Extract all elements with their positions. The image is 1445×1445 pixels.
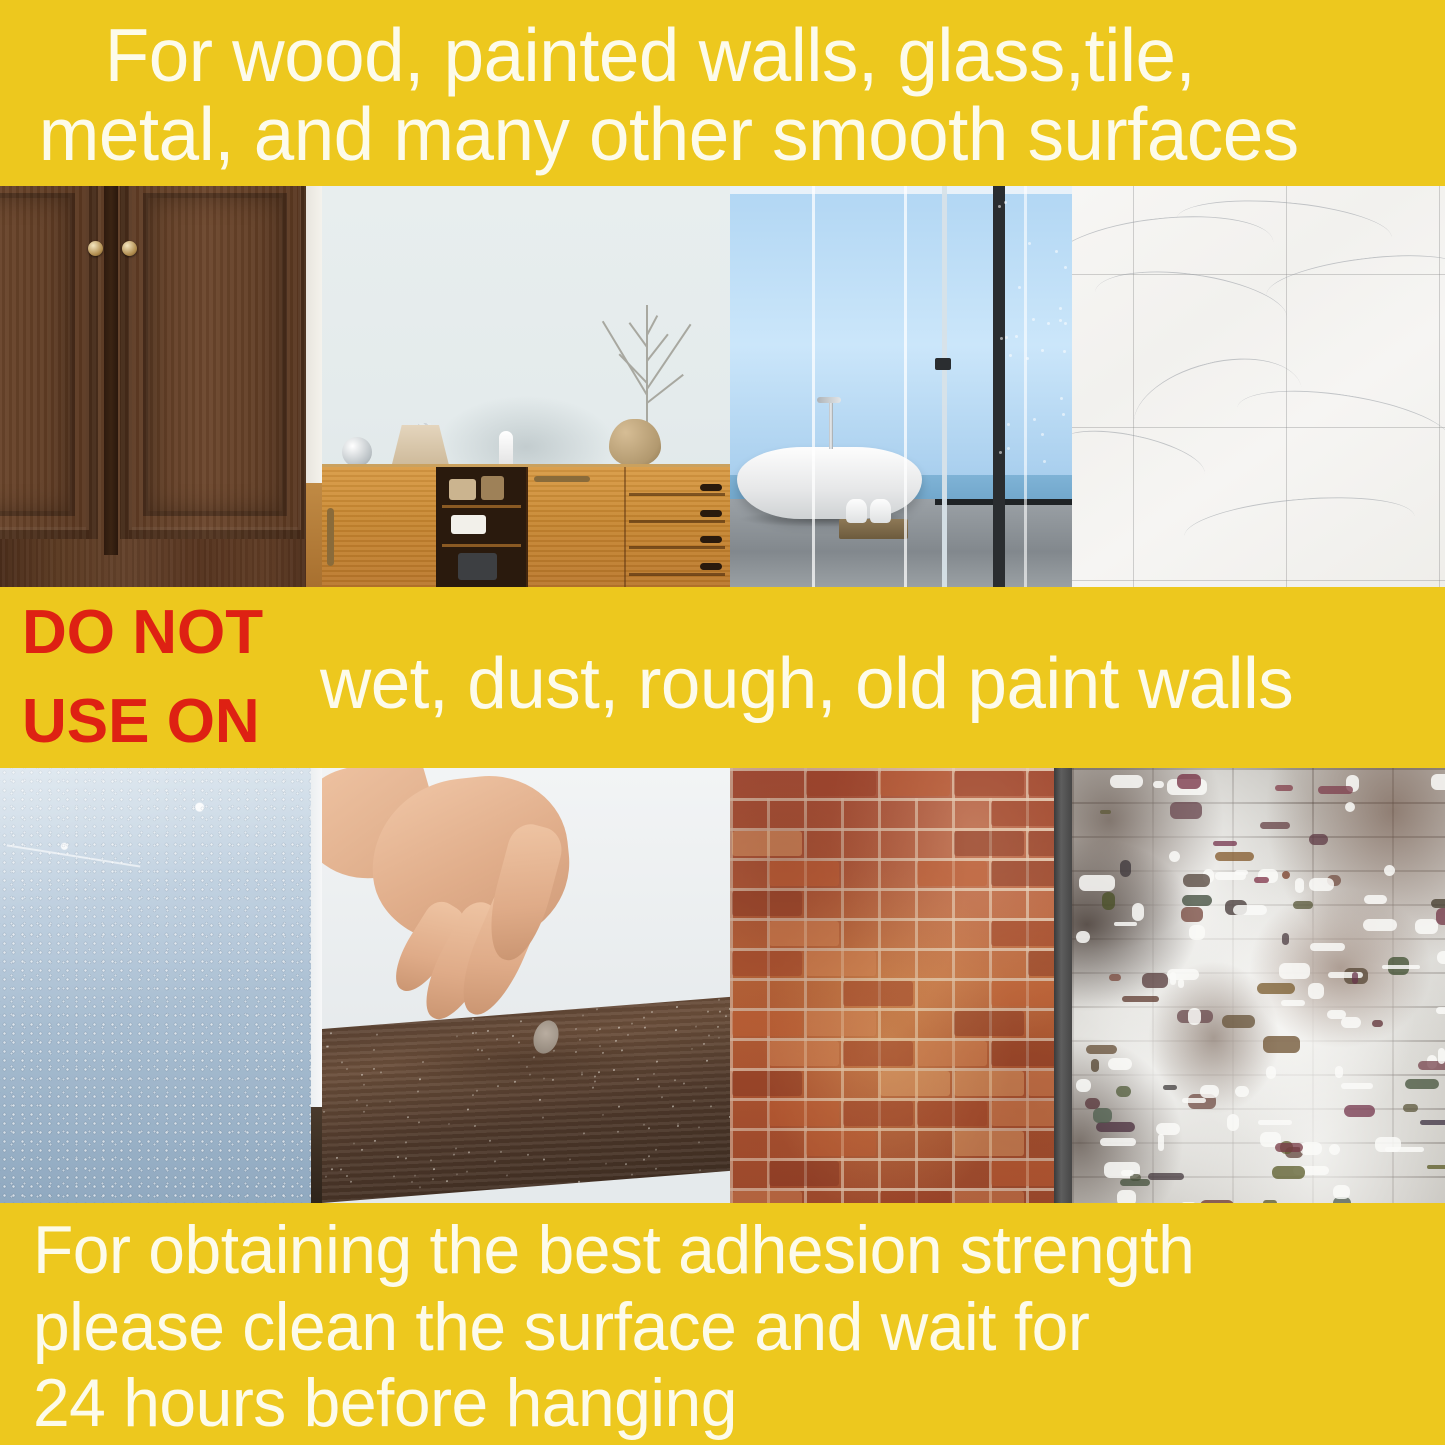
paint-fleck [1086,1045,1117,1054]
paint-fleck [1438,1048,1445,1064]
dust-speck [672,1105,674,1107]
dust-speck [543,1158,545,1160]
paint-fleck [1436,1007,1445,1014]
dust-speck [393,1176,395,1178]
dust-speck [446,1180,448,1182]
paint-fleck [1076,1079,1091,1092]
paint-fleck [1167,969,1199,980]
cabinet-door-right [120,186,310,539]
drawer-seam [629,546,724,549]
dust-speck [569,1158,571,1160]
paint-fleck [1188,1008,1201,1025]
bathtub [737,447,922,519]
brick-face [732,1071,802,1096]
paint-fleck [1327,1010,1346,1019]
paint-fleck [1282,871,1290,879]
do-not-use-line-2: USE ON [22,678,320,766]
dust-speck [363,1084,365,1086]
dust-speck [655,1168,657,1170]
dust-speck [494,1161,496,1163]
dust-speck [389,1101,391,1103]
dust-speck [656,1060,658,1062]
sideboard-handle [534,476,590,482]
dust-speck [677,1123,679,1125]
drawer-seam [629,573,724,576]
brick-face [954,1011,1024,1036]
ceramic-vase [609,419,661,467]
brick-face [917,1041,987,1066]
dust-speck [717,1026,719,1028]
dust-speck [683,1083,685,1085]
branch-twig [647,374,684,404]
dust-speck [414,1174,416,1176]
dust-speck [703,1042,705,1044]
dust-speck [366,1104,368,1106]
drawer-pull [700,510,722,517]
glass-speck [1015,335,1018,338]
door-latch [935,358,951,370]
dust-speck [489,1139,491,1141]
dust-speck [373,1068,375,1070]
dust-speck [405,1142,407,1144]
paint-fleck [1257,983,1295,994]
dust-speck [430,1159,432,1161]
dust-speck [602,1113,604,1115]
dust-speck [693,1099,695,1101]
brick-face [991,1161,1061,1186]
dust-speck [466,1171,468,1173]
dust-speck [330,1032,332,1034]
paint-fleck [1341,1017,1361,1028]
glass-speck [1018,286,1021,289]
brick-face [769,861,839,886]
dust-speck [653,1073,655,1075]
forbidden-surfaces-photo-row [0,768,1445,1203]
glass-speck [998,205,1001,208]
cabinet-knob-icon [88,241,103,256]
brick-face [843,1041,913,1066]
dust-speck [698,1126,700,1128]
dust-speck [527,1154,529,1156]
brick-face [954,1071,1024,1096]
dust-speck [397,1156,399,1158]
dust-speck [472,1094,474,1096]
cabinet-door-gap [104,186,118,555]
do-not-use-label: DO NOT USE ON [0,589,320,765]
cabinet-knob-icon [122,241,137,256]
paint-fleck [1170,802,1202,819]
dust-speck [643,1124,645,1126]
shelf-divider [442,505,521,508]
dust-speck [605,1162,607,1164]
dust-speck [618,1105,620,1107]
dust-speck [705,1086,707,1088]
brick-face [806,1011,876,1036]
glass-mullion [812,186,815,587]
dust-speck [542,1117,544,1119]
paint-fleck [1266,1066,1276,1079]
wood-cabinet-photo [0,186,322,587]
sideboard-open-shelves [436,467,528,587]
paint-fleck [1183,874,1210,887]
dust-speck [467,1108,469,1110]
dust-speck [506,1174,508,1176]
cabinet-wall-strip [306,186,322,483]
dust-speck [675,1029,677,1031]
glass-speck [1060,397,1063,400]
drawer-seam [629,493,724,496]
drawer-seam [629,520,724,523]
dust-speck [433,1168,435,1170]
paint-fleck [1308,983,1324,999]
dust-speck [331,1168,333,1170]
paint-fleck [1102,892,1115,910]
paint-fleck [1431,899,1445,908]
sky-background [730,186,1072,475]
paint-fleck [1163,1085,1177,1090]
paint-fleck [1117,1190,1136,1203]
dust-speck [708,1034,710,1036]
dust-speck [677,1125,679,1127]
drawer-pull [700,536,722,543]
instructions-line-1: For obtaining the best adhesion strength [0,1212,1402,1289]
brick-face [991,1101,1061,1126]
dust-speck [583,1133,585,1135]
paint-fleck [1142,973,1168,988]
paint-fleck [1437,951,1445,964]
dust-speck [676,1006,678,1008]
paint-fleck [1096,1122,1135,1132]
branch-twig [647,333,670,361]
rough-brick-photo [730,768,1072,1203]
paint-fleck [1263,1036,1300,1053]
top-headline-line-1: For wood, painted walls, glass,tile, [0,16,1402,96]
top-headline-band: For wood, painted walls, glass,tile, met… [0,0,1445,186]
shelf-divider [442,544,521,547]
paint-fleck [1227,1114,1239,1131]
dust-speck [356,1099,358,1101]
brick-face [732,951,802,976]
shelf-object [481,476,504,500]
dust-speck [710,1105,712,1107]
dust-speck [578,1180,580,1182]
do-not-use-band: DO NOT USE ON wet, dust, rough, old pain… [0,587,1445,768]
paint-fleck [1100,810,1111,814]
brick-face [769,921,839,946]
glass-mullion [904,186,907,587]
shelf-object [458,553,497,579]
figurine-ornament [499,431,513,467]
dust-speck [340,1169,342,1171]
paint-fleck [1235,1086,1249,1097]
dust-speck [323,1111,325,1113]
dusty-surface-photo [322,768,730,1203]
brick-face [991,861,1061,886]
approved-surfaces-photo-row [0,186,1445,587]
brick-face [917,1101,987,1126]
dust-speck [674,1079,676,1081]
brick-face [732,831,802,856]
dust-speck [631,1173,633,1175]
paint-fleck [1079,875,1115,891]
brick-face [954,831,1024,856]
brick-face [880,771,950,796]
paint-fleck [1189,925,1205,940]
dust-speck [718,999,720,1001]
brick-face [880,1071,950,1096]
folded-towel [846,499,867,523]
dust-speck [476,1090,478,1092]
instructions-band: For obtaining the best adhesion strength… [0,1203,1445,1445]
paint-fleck [1148,1173,1184,1180]
paint-fleck [1405,1079,1439,1089]
dust-speck [432,1178,434,1180]
dust-speck [346,1175,348,1177]
dust-speck [725,1015,727,1017]
dust-speck [336,1156,338,1158]
dust-speck [456,1173,458,1175]
paint-fleck [1085,1098,1100,1109]
glass-speck [999,451,1002,454]
dust-speck [500,1151,502,1153]
dust-speck [706,1059,708,1061]
glass-speck [1063,350,1066,353]
paint-fleck [1215,872,1246,880]
brick-face [769,1161,839,1186]
paint-fleck [1272,1166,1305,1179]
dust-speck [695,1026,697,1028]
glass-speck [1043,460,1046,463]
paint-fleck [1385,1147,1424,1152]
paint-fleck [1200,1085,1219,1098]
dust-speck [327,1046,329,1048]
glass-speck [1041,349,1044,352]
paint-fleck [1156,1123,1180,1135]
paint-fleck [1275,1143,1303,1152]
sideboard-door [322,467,438,587]
branch-twig [647,315,659,335]
glass-speck [1059,319,1062,322]
brick-face [806,771,876,796]
paint-fleck [1363,919,1397,931]
shelf-object [449,479,476,501]
paint-fleck [1415,919,1438,934]
paint-fleck [1177,774,1201,789]
paint-fleck [1382,965,1420,969]
dust-speck [341,1062,343,1064]
paint-fleck [1372,1020,1383,1027]
dust-speck [707,1011,709,1013]
dust-speck [374,1140,376,1142]
paint-fleck [1114,922,1137,926]
dust-speck [448,1123,450,1125]
paint-fleck [1122,996,1159,1002]
paint-fleck [1258,1120,1292,1125]
cabinet-floor-strip [306,483,322,587]
dust-speck [405,1157,407,1159]
paint-fleck [1158,1134,1164,1151]
brick-face [806,1131,876,1156]
brick-face [917,861,987,886]
dust-speck [353,1143,355,1145]
dry-branch [646,305,648,423]
panel-edge [311,768,322,1203]
hand [346,772,664,1059]
brick-face [880,1191,950,1203]
drawer-pull [700,563,722,570]
brick-face [732,891,802,916]
paint-fleck [1293,901,1313,909]
paint-fleck [1091,1059,1099,1072]
glass-speck [1005,336,1008,339]
dust-speck [474,1125,476,1127]
do-not-use-target-surfaces: wet, dust, rough, old paint walls [320,632,1428,722]
paint-fleck [1282,933,1289,945]
painted-wall-photo [322,186,730,587]
dust-speck [718,1037,720,1039]
dust-speck [325,1176,327,1178]
paint-fleck [1403,1104,1418,1112]
wet-surface-photo [0,768,322,1203]
paint-fleck [1120,1179,1150,1186]
dust-speck [453,1154,455,1156]
paint-fleck [1254,877,1269,883]
paint-fleck [1344,1105,1375,1117]
dust-speck [361,1074,363,1076]
paint-fleck [1427,1165,1445,1169]
glass-speck [1000,337,1003,340]
tile-photo [1072,186,1445,587]
paint-fleck [1436,908,1445,925]
brick-face [954,1191,1024,1203]
window-lintel [730,186,1072,194]
brick-face [769,1101,839,1126]
dust-speck [539,1099,541,1101]
paint-fleck [1182,895,1212,906]
paint-fleck [1169,851,1180,862]
paint-fleck [1310,943,1345,951]
dust-speck [648,1128,650,1130]
brick-face [732,1011,802,1036]
paint-fleck [1110,775,1143,788]
paint-fleck [1222,1015,1255,1028]
paint-fleck [1213,841,1237,846]
glass-door-frame [942,186,947,587]
paint-fleck [1178,979,1184,988]
paint-fleck [1295,878,1304,893]
dust-speck [407,1116,409,1118]
dust-speck [658,1086,660,1088]
dust-speck [350,1181,352,1183]
sideboard-drawers [624,467,730,587]
dust-speck [699,1169,701,1171]
black-post [993,186,1005,587]
dust-speck [411,1180,413,1182]
sideboard-cabinet [526,467,626,587]
paint-fleck [1093,1108,1112,1123]
shelf-object [451,515,487,534]
glass-speck [1004,201,1007,204]
dust-speck [691,1048,693,1050]
dust-speck [468,1152,470,1154]
sideboard-handle [327,508,334,566]
paint-fleck [1318,786,1353,794]
dust-speck [419,1186,421,1188]
product-infographic: For wood, painted walls, glass,tile, met… [0,0,1445,1445]
paint-fleck [1352,972,1358,984]
paint-fleck [1215,852,1254,861]
dust-speck [625,1163,627,1165]
paint-fleck [1260,822,1290,829]
dust-speck [418,1121,420,1123]
dust-speck [655,1148,657,1150]
paint-fleck [1182,1098,1206,1103]
dust-speck [361,1149,363,1151]
dust-speck [417,1091,419,1093]
paint-fleck [1275,785,1293,791]
top-headline-line-2: metal, and many other smooth surfaces [0,95,1402,175]
glass-speck [1047,322,1050,325]
drawer-pull [700,484,722,491]
paint-fleck [1279,963,1310,979]
dust-speck [698,1141,700,1143]
brick-face [954,1131,1024,1156]
brick-face [991,981,1061,1006]
dust-speck [719,1010,721,1012]
decorative-ball [342,437,372,467]
paint-fleck [1309,878,1334,891]
cabinet-door-left [0,186,98,539]
branch-twig [619,353,648,383]
paint-fleck [1281,1000,1305,1006]
dust-speck [661,1097,663,1099]
paint-fleck [1333,1185,1350,1199]
brick-face [991,1041,1061,1066]
brick-face [732,1191,802,1203]
glass-speck [1062,413,1065,416]
glass-photo [730,186,1072,587]
dust-speck [380,1071,382,1073]
glass-speck [1064,322,1067,325]
dust-speck [643,1158,645,1160]
paint-fleck [1335,1066,1343,1078]
folded-towel [870,499,891,523]
brick-face [843,1101,913,1126]
faucet [829,403,833,449]
brick-face [843,981,913,1006]
dust-speck [617,1130,619,1132]
paint-fleck [1431,774,1445,790]
brick-face [991,801,1061,826]
wooden-sideboard [322,464,730,587]
surface-sheen [0,768,322,1203]
brick-face [991,921,1061,946]
paint-fleck [1076,931,1090,943]
paint-fleck [1121,1170,1134,1176]
paint-fleck [1109,974,1121,981]
paint-fleck [1233,905,1267,915]
do-not-use-line-1: DO NOT [22,589,320,677]
paint-fleck [1181,907,1203,922]
dust-speck [455,1148,457,1150]
dust-speck [648,1156,650,1158]
brick-face [806,951,876,976]
paint-fleck [1341,1083,1373,1089]
paint-fleck [1100,1138,1136,1146]
paint-fleck [1364,895,1387,904]
panel-edge [1054,768,1072,1203]
paint-fleck [1309,834,1328,845]
